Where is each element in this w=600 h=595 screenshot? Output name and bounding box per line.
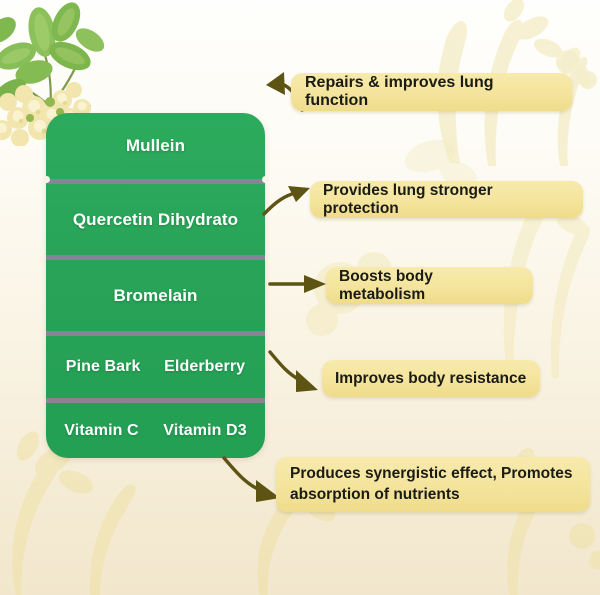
callout-lung-protection[interactable]: Provides lung stronger protection	[310, 181, 583, 218]
callout-text: Repairs & improves lung function	[305, 74, 558, 110]
callout-improves-resistance[interactable]: Improves body resistance	[322, 360, 540, 397]
ingredient-label: Bromelain	[113, 286, 197, 306]
panel-row-quercetin: Quercetin Dihydrato	[46, 184, 265, 255]
panel-row-bromelain: Bromelain	[46, 260, 265, 331]
callout-repairs-lung-function[interactable]: Repairs & improves lung function	[291, 73, 572, 111]
callout-text: Improves body resistance	[335, 370, 527, 388]
panel-notch-left	[43, 176, 50, 183]
ingredient-label: Mullein	[126, 136, 185, 156]
ingredient-label: Vitamin D3	[163, 422, 246, 440]
panel-row-vitamins: Vitamin C Vitamin D3	[46, 403, 265, 458]
infographic-canvas: Mullein Quercetin Dihydrato Bromelain Pi…	[0, 0, 600, 595]
callout-text-line2: absorption of nutrients	[290, 485, 576, 506]
callout-synergistic-effect[interactable]: Produces synergistic effect, Promotes ab…	[276, 457, 590, 512]
ingredient-label: Quercetin Dihydrato	[73, 210, 238, 230]
ingredient-label: Vitamin C	[64, 422, 138, 440]
panel-row-pinebark-elderberry: Pine Bark Elderberry	[46, 336, 265, 398]
arrow-curve-down-icon	[268, 348, 328, 398]
botanical-watermark-mid-right-icon	[300, 120, 600, 380]
callout-text: Boosts body metabolism	[339, 268, 520, 304]
ingredient-label: Pine Bark	[66, 358, 141, 376]
callout-boosts-metabolism[interactable]: Boosts body metabolism	[326, 267, 533, 304]
ingredient-panel: Mullein Quercetin Dihydrato Bromelain Pi…	[46, 113, 265, 458]
panel-notch-right	[262, 176, 269, 183]
ingredient-label: Elderberry	[164, 358, 245, 376]
arrow-straight-right-icon	[268, 272, 328, 296]
callout-text-line1: Produces synergistic effect, Promotes	[290, 464, 576, 485]
callout-text: Provides lung stronger protection	[323, 182, 570, 218]
panel-row-mullein: Mullein	[46, 113, 265, 179]
